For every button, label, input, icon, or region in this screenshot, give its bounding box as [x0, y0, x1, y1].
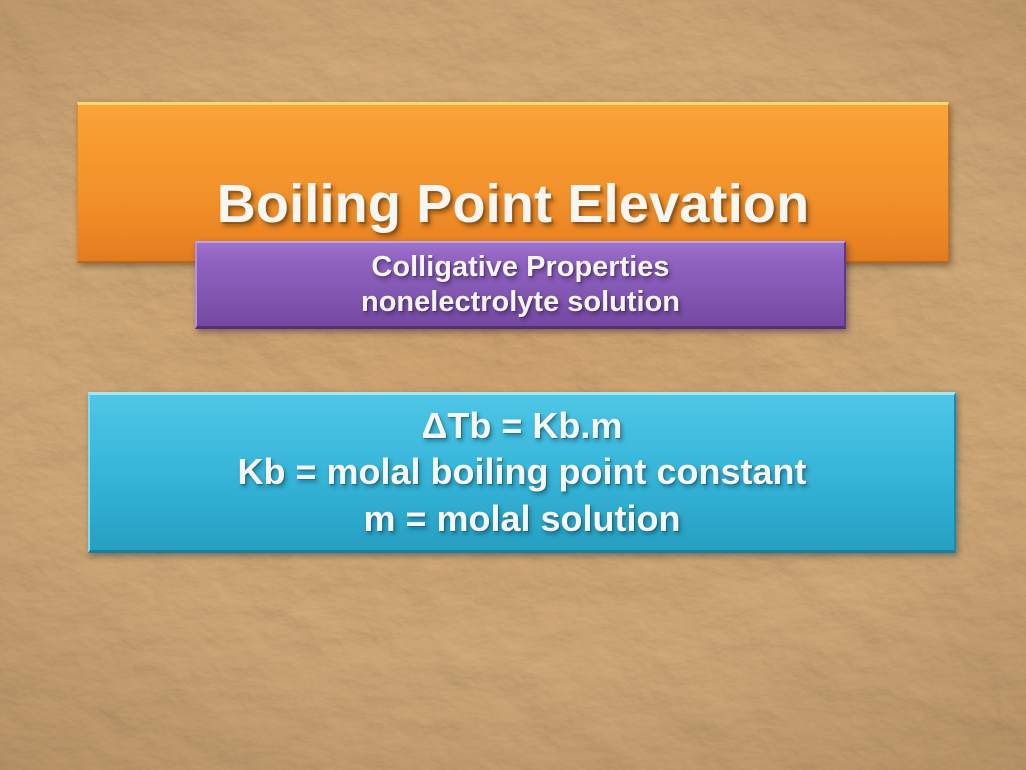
- formula-line-1: ΔTb = Kb.m: [238, 403, 807, 449]
- slide-title: Boiling Point Elevation: [217, 131, 810, 234]
- formula-line-2: Kb = molal boiling point constant: [238, 449, 807, 495]
- presentation-slide: Boiling Point Elevation Colligative Prop…: [0, 0, 1026, 770]
- formula-line-3: m = molal solution: [238, 496, 807, 542]
- subtitle-line-1: Colligative Properties: [361, 250, 680, 284]
- subtitle-card: Colligative Properties nonelectrolyte so…: [195, 241, 846, 329]
- title-card: Boiling Point Elevation: [77, 102, 949, 263]
- subtitle-text-block: Colligative Properties nonelectrolyte so…: [361, 250, 680, 318]
- formula-text-block: ΔTb = Kb.m Kb = molal boiling point cons…: [238, 403, 807, 541]
- formula-card: ΔTb = Kb.m Kb = molal boiling point cons…: [88, 392, 956, 553]
- subtitle-line-2: nonelectrolyte solution: [361, 285, 680, 319]
